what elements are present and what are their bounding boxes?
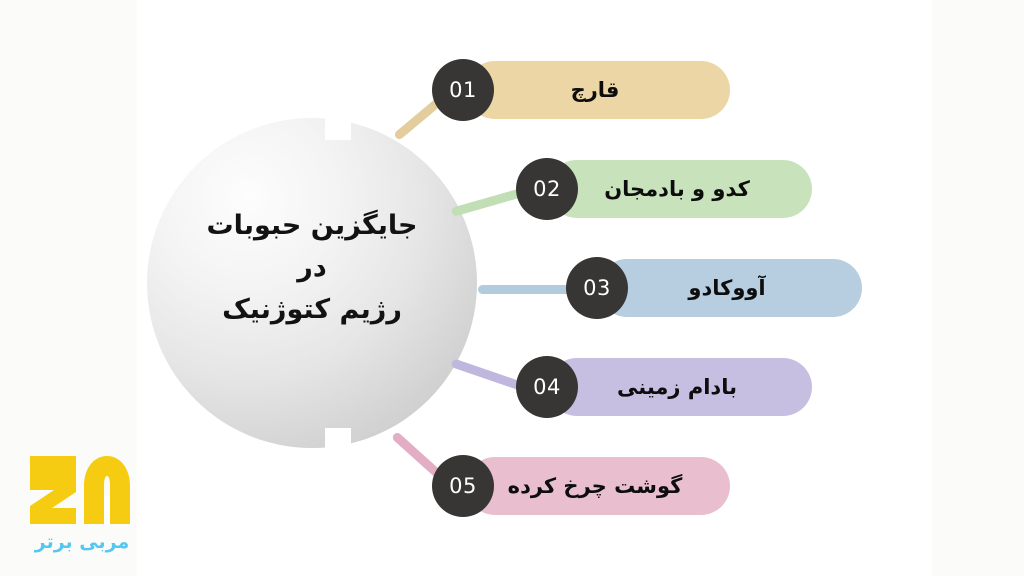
brand-logo-subtitle: مربی برتر <box>24 531 140 553</box>
item-label: بادام زمینی <box>617 375 743 399</box>
connector-line-03 <box>478 285 578 294</box>
item-label: آووکادو <box>688 276 771 300</box>
item-pill-05[interactable]: گوشت چرخ کرده <box>466 457 730 515</box>
item-pill-02[interactable]: کدو و بادمجان <box>548 160 812 218</box>
item-pill-01[interactable]: قارچ <box>466 61 730 119</box>
item-number: 04 <box>533 375 561 399</box>
item-number: 02 <box>533 177 561 201</box>
item-number-badge-01[interactable]: 01 <box>432 59 494 121</box>
item-number-badge-03[interactable]: 03 <box>566 257 628 319</box>
item-label: کدو و بادمجان <box>604 177 756 201</box>
za-logo-icon <box>24 452 140 526</box>
item-label: گوشت چرخ کرده <box>508 474 689 498</box>
item-number-badge-04[interactable]: 04 <box>516 356 578 418</box>
hub-notch-bottom <box>325 428 351 450</box>
item-pill-04[interactable]: بادام زمینی <box>548 358 812 416</box>
central-topic-line-3: رژیم کتوژنیک <box>147 289 477 331</box>
central-topic-line-1: جایگزین حبوبات <box>147 205 477 247</box>
brand-logo: مربی برتر <box>24 452 140 556</box>
central-topic-text: جایگزین حبوبات در رژیم کتوژنیک <box>147 205 477 331</box>
item-number-badge-02[interactable]: 02 <box>516 158 578 220</box>
item-label: قارچ <box>571 78 626 102</box>
central-topic-line-2: در <box>147 247 477 289</box>
hub-notch-top <box>325 118 351 140</box>
item-number-badge-05[interactable]: 05 <box>432 455 494 517</box>
item-number: 05 <box>449 474 477 498</box>
infographic-canvas: جایگزین حبوبات در رژیم کتوژنیک قارچ01کدو… <box>0 0 1024 576</box>
item-number: 03 <box>583 276 611 300</box>
item-number: 01 <box>449 78 477 102</box>
item-pill-03[interactable]: آووکادو <box>598 259 862 317</box>
